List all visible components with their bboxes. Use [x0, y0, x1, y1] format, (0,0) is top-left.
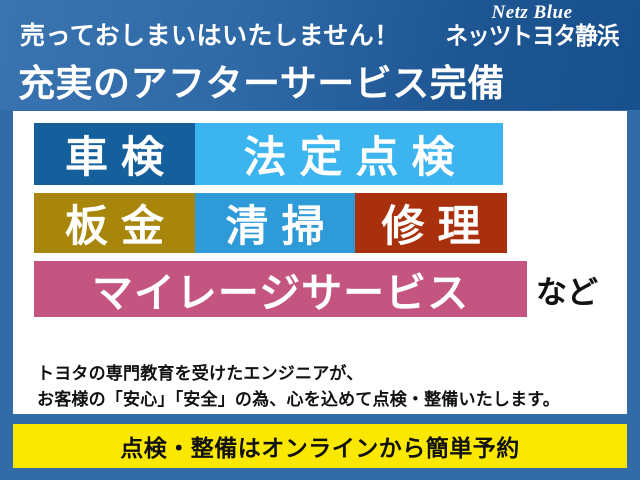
service-badge-suffix-nado: など — [536, 267, 598, 312]
advertisement-root: 売っておしまいはいたしません！ 充実のアフターサービス完備 Netz Blue … — [0, 0, 640, 480]
cta-label: 点検・整備はオンラインから簡単予約 — [120, 429, 520, 463]
service-badge-hoteitenken[interactable]: 法定点検 — [195, 123, 503, 185]
header-banner: 売っておしまいはいたしません！ 充実のアフターサービス完備 Netz Blue … — [0, 0, 640, 110]
service-badge-seisou[interactable]: 清掃 — [195, 193, 355, 253]
description-text: トヨタの専門教育を受けたエンジニアが、 お客様の「安心」「安全」の為、心を込めて… — [37, 361, 560, 413]
content-panel: 車検 法定点検 板金 清掃 修理 マイレージサービス など トヨタの専門教育を受… — [13, 111, 627, 414]
service-badge-row-2: 板金 清掃 修理 — [34, 193, 598, 253]
brand-name-japanese: ネッツトヨタ静浜 — [438, 24, 626, 50]
description-line-1: トヨタの専門教育を受けたエンジニアが、 — [37, 361, 560, 387]
header-headline: 充実のアフターサービス完備 — [18, 53, 505, 107]
brand-logo: Netz Blue ネッツトヨタ静浜 — [432, 2, 632, 50]
service-badge-shuri[interactable]: 修理 — [355, 193, 507, 253]
service-badge-row-3: マイレージサービス など — [34, 261, 598, 317]
description-line-2: お客様の「安心」「安全」の為、心を込めて点検・整備いたします。 — [37, 387, 560, 413]
cta-banner[interactable]: 点検・整備はオンラインから簡単予約 — [13, 424, 627, 468]
brand-name-english: Netz Blue — [432, 2, 632, 24]
service-badge-list: 車検 法定点検 板金 清掃 修理 マイレージサービス など — [34, 123, 598, 317]
service-badge-row-1: 車検 法定点検 — [34, 123, 598, 185]
header-tagline: 売っておしまいはいたしません！ — [20, 16, 400, 52]
service-badge-mileage-service[interactable]: マイレージサービス — [34, 261, 527, 317]
service-badge-bankin[interactable]: 板金 — [34, 193, 195, 253]
service-badge-shaken[interactable]: 車検 — [34, 123, 195, 185]
